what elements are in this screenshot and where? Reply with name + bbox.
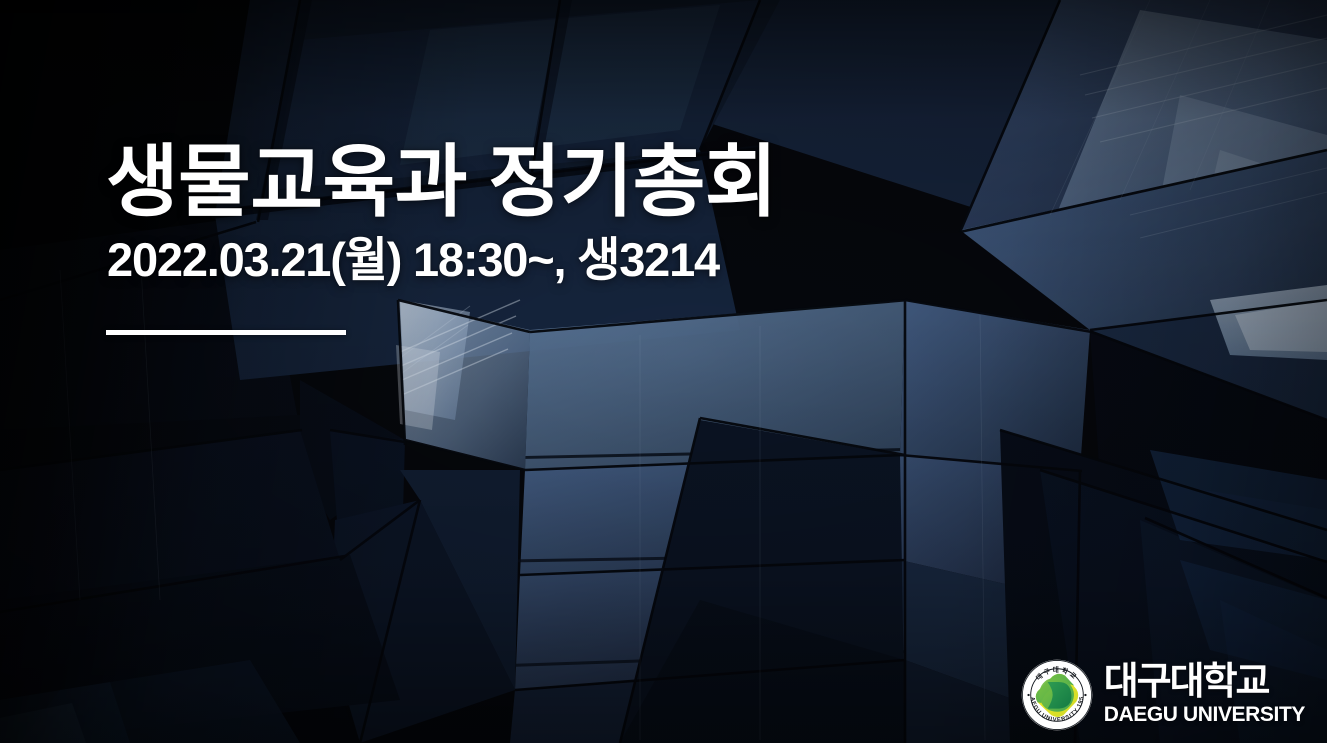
title-divider-rule [106,330,346,335]
logo-english-name: DAEGU UNIVERSITY [1104,704,1305,725]
daegu-university-logo: 대구대학교 DAEGU UNIVERSITY 1956 대구대학교 DAEGU … [1021,659,1305,731]
background-image [0,0,1327,743]
daegu-university-emblem-icon: 대구대학교 DAEGU UNIVERSITY 1956 [1021,659,1093,731]
slide-title: 생물교육과 정기총회 [106,140,777,224]
logo-wordmark: 대구대학교 DAEGU UNIVERSITY [1104,663,1305,727]
logo-korean-name: 대구대학교 [1104,663,1305,701]
presentation-slide: 생물교육과 정기총회 2022.03.21(월) 18:30~, 생3214 [0,0,1327,743]
slide-text-block: 생물교육과 정기총회 2022.03.21(월) 18:30~, 생3214 [106,140,777,335]
slide-subtitle: 2022.03.21(월) 18:30~, 생3214 [107,234,777,287]
